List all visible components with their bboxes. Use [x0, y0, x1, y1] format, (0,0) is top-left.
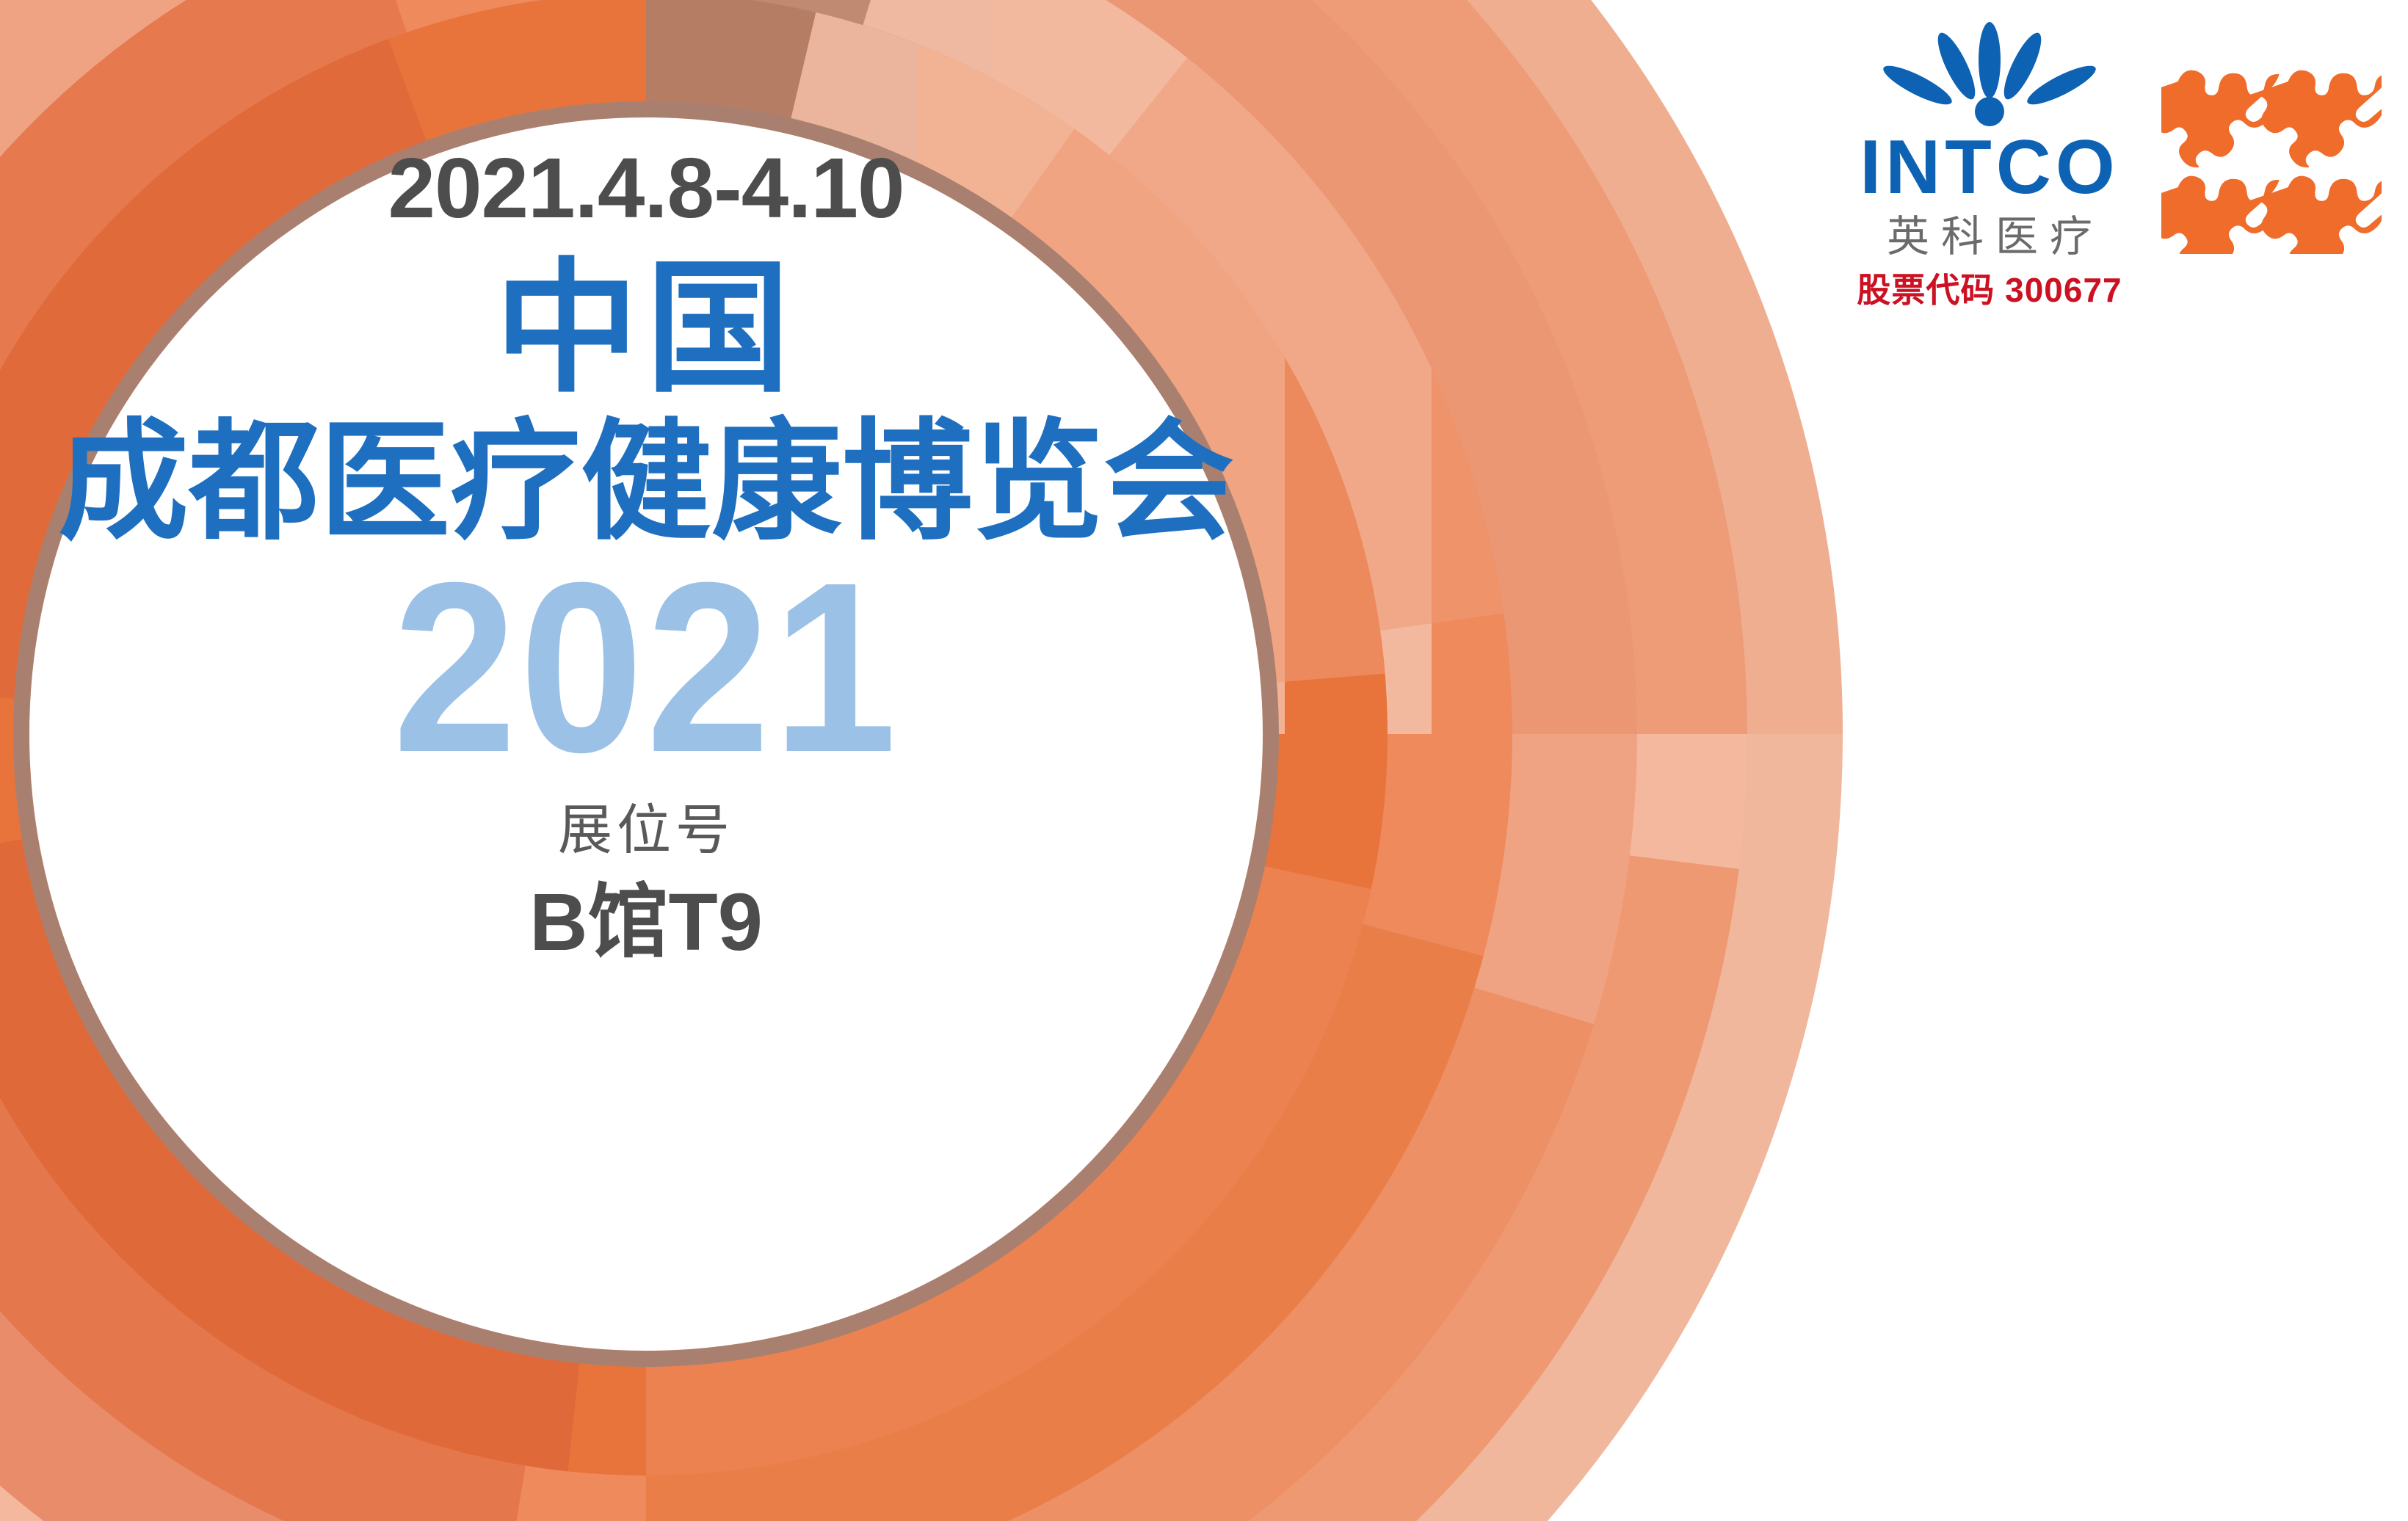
intco-logo: INTCO 英科医疗 股票代码 300677 [1850, 18, 2129, 307]
event-year: 2021 [393, 556, 899, 779]
four-puzzle-pieces-icon [2161, 34, 2382, 254]
logo-lockup: INTCO 英科医疗 股票代码 300677 [1850, 18, 2382, 307]
booth-label: 展位号 [558, 803, 734, 857]
intco-fan-icon [1850, 18, 2129, 128]
event-title: 成都医疗健康博览会 [58, 414, 1234, 551]
booth-value: B馆T9 [529, 882, 763, 963]
center-content-stack: 2021.4.8-4.10 中国 成都医疗健康博览会 2021 展位号 B馆T9 [44, 103, 1248, 1365]
intco-chinese-name: 英科医疗 [1875, 216, 2104, 258]
event-date: 2021.4.8-4.10 [388, 145, 904, 230]
intco-wordmark: INTCO [1860, 129, 2119, 206]
event-country: 中国 [495, 255, 797, 402]
expo-banner: 2021.4.8-4.10 中国 成都医疗健康博览会 2021 展位号 B馆T9 [0, 0, 2408, 1521]
stock-code-text: 股票代码 300677 [1857, 273, 2122, 307]
